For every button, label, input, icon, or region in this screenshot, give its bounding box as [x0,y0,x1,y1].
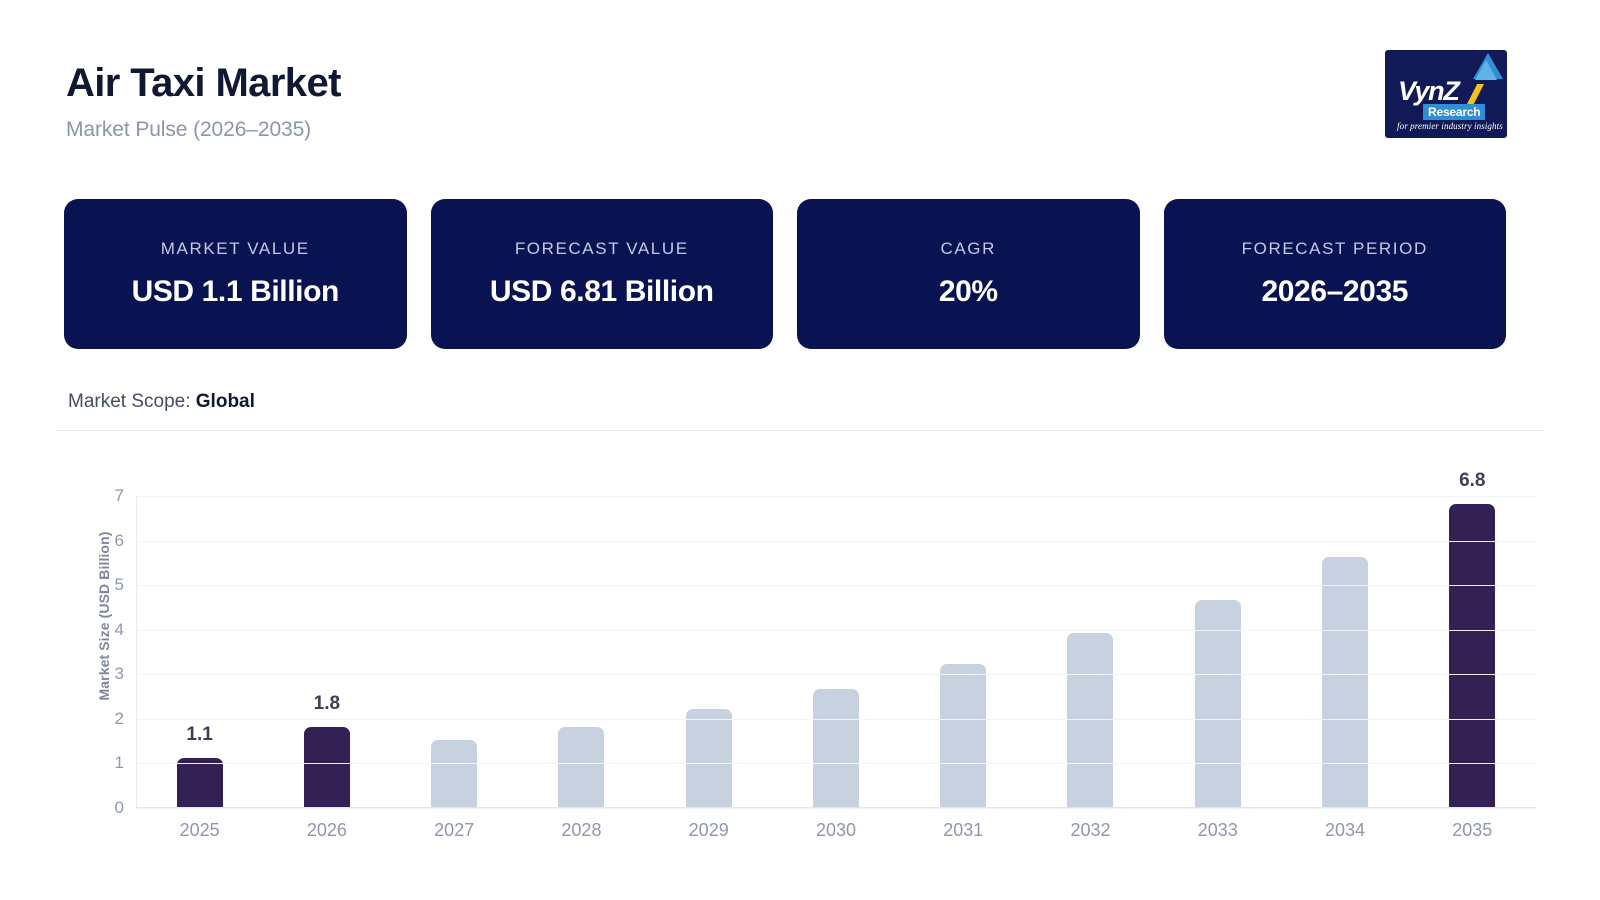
y-axis-tick: 7 [90,486,124,506]
logo-z-accent-icon [1467,84,1484,104]
x-axis-tick: 2033 [1154,820,1281,841]
bar-slot[interactable] [1281,496,1408,807]
market-scope: Market Scope: Global [68,391,255,413]
kpi-label: MARKET VALUE [161,239,310,259]
logo-arrow-inner-icon [1475,60,1497,80]
market-scope-value: Global [196,391,255,412]
y-axis-tick: 0 [90,798,124,818]
plot-area: 1.11.86.8 01234567 [136,496,1536,808]
market-size-bar-chart: Market Size (USD Billion) 1.11.86.8 0123… [56,448,1546,868]
x-axis-tick: 2028 [518,820,645,841]
gridline [136,585,1536,586]
x-axis-labels: 2025202620272028202920302031203220332034… [136,820,1536,841]
kpi-label: FORECAST VALUE [515,239,689,259]
x-axis-tick: 2026 [263,820,390,841]
kpi-value: USD 6.81 Billion [490,275,714,309]
bar[interactable] [686,709,732,807]
bar-value-label: 1.1 [186,724,212,746]
page-subtitle: Market Pulse (2026–2035) [66,118,341,142]
gridline [136,719,1536,720]
market-scope-label: Market Scope: [68,391,191,412]
x-axis-tick: 2032 [1027,820,1154,841]
gridline [136,630,1536,631]
kpi-label: CAGR [940,239,996,259]
bar-slot[interactable] [518,496,645,807]
x-axis-tick: 2034 [1281,820,1408,841]
logo-subbrand-text: Research [1423,104,1485,120]
x-axis-tick: 2029 [645,820,772,841]
bar[interactable] [1322,557,1368,807]
gridline [136,496,1536,497]
bar[interactable] [1195,600,1241,807]
bar[interactable] [940,664,986,807]
y-axis-tick: 5 [90,575,124,595]
bar-value-label: 1.8 [314,693,340,715]
x-axis-tick: 2027 [391,820,518,841]
bar[interactable] [558,727,604,807]
bar-slot[interactable] [391,496,518,807]
y-axis-tick: 1 [90,753,124,773]
kpi-card-forecast-value: FORECAST VALUE USD 6.81 Billion [431,199,774,349]
kpi-card-forecast-period: FORECAST PERIOD 2026–2035 [1164,199,1507,349]
kpi-card-cagr: CAGR 20% [797,199,1140,349]
logo-tagline-text: for premier industry insights [1397,121,1503,131]
bar-value-label: 6.8 [1459,470,1485,492]
x-axis-tick: 2035 [1409,820,1536,841]
gridline [136,763,1536,764]
logo-brand-text: VynZ [1398,76,1459,107]
y-axis-tick: 6 [90,531,124,551]
kpi-value: USD 1.1 Billion [132,275,339,309]
bar-slot[interactable]: 1.1 [136,496,263,807]
bar-group: 1.11.86.8 [136,496,1536,807]
bar[interactable] [431,740,477,807]
y-axis-tick: 3 [90,664,124,684]
bar-slot[interactable] [772,496,899,807]
bar[interactable] [1067,633,1113,807]
vynz-research-logo: VynZ Research for premier industry insig… [1385,50,1507,138]
kpi-card-market-value: MARKET VALUE USD 1.1 Billion [64,199,407,349]
bar-slot[interactable] [1154,496,1281,807]
page-header: Air Taxi Market Market Pulse (2026–2035) [66,62,341,142]
kpi-value: 20% [939,275,998,309]
x-axis-tick: 2031 [900,820,1027,841]
bar[interactable] [177,758,223,807]
gridline [136,808,1536,809]
page-title: Air Taxi Market [66,62,341,104]
x-axis-tick: 2025 [136,820,263,841]
kpi-value: 2026–2035 [1261,275,1408,309]
market-report-page: Air Taxi Market Market Pulse (2026–2035)… [0,0,1600,900]
x-axis-tick: 2030 [772,820,899,841]
bar-slot[interactable]: 6.8 [1409,496,1536,807]
bar-slot[interactable]: 1.8 [263,496,390,807]
bar[interactable] [1449,504,1495,807]
bar-slot[interactable] [1027,496,1154,807]
bar-slot[interactable] [900,496,1027,807]
y-axis-tick: 4 [90,620,124,640]
bar-slot[interactable] [645,496,772,807]
section-divider [56,430,1544,431]
y-axis-tick: 2 [90,709,124,729]
kpi-card-row: MARKET VALUE USD 1.1 Billion FORECAST VA… [64,199,1506,349]
gridline [136,674,1536,675]
gridline [136,541,1536,542]
kpi-label: FORECAST PERIOD [1242,239,1428,259]
bar[interactable] [813,689,859,807]
bar[interactable] [304,727,350,807]
